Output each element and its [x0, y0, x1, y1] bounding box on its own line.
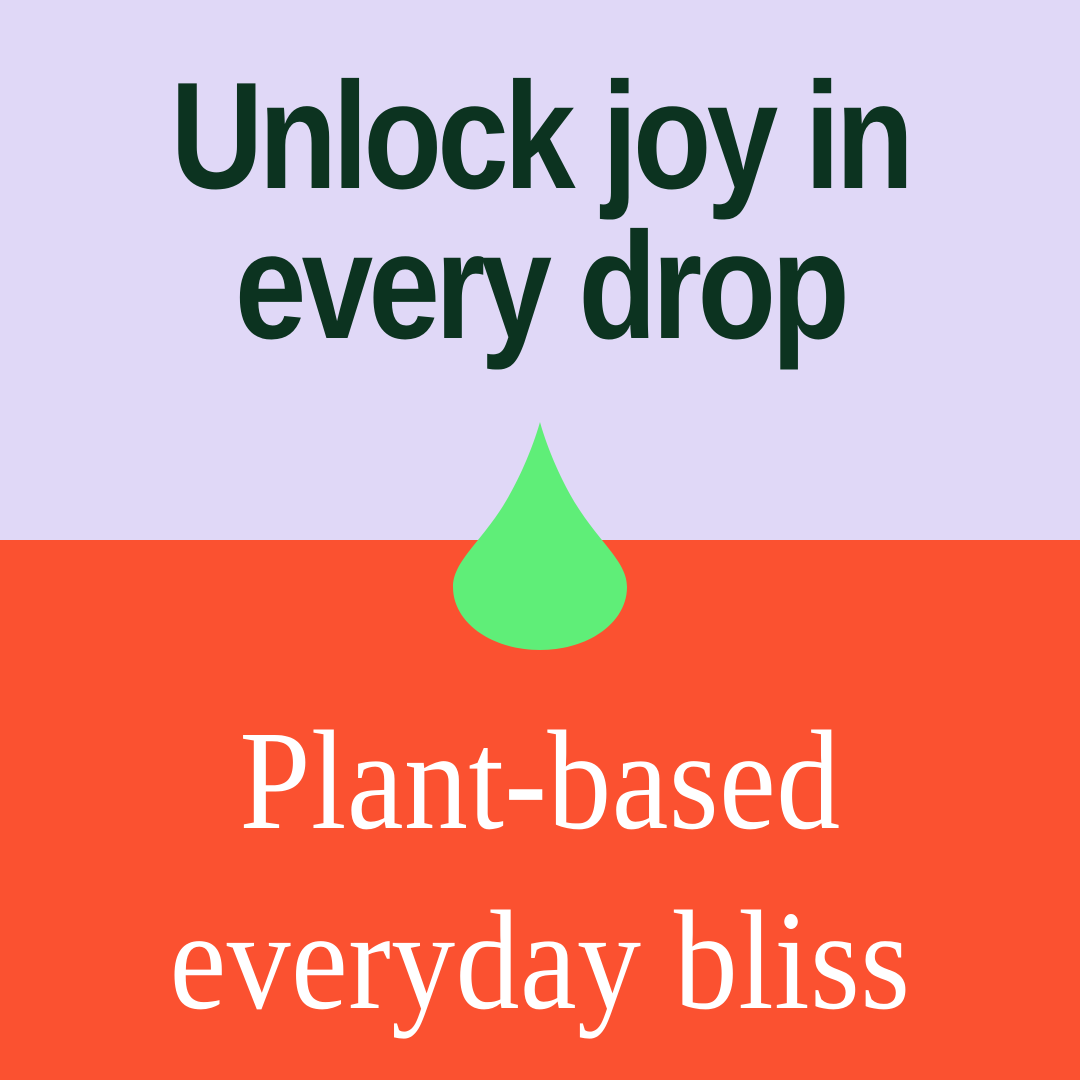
- droplet-graphic: [451, 420, 629, 652]
- water-droplet-icon: [451, 420, 629, 652]
- poster-canvas: Unlock joy in every drop Plant-based eve…: [0, 0, 1080, 1080]
- droplet-path: [453, 422, 627, 650]
